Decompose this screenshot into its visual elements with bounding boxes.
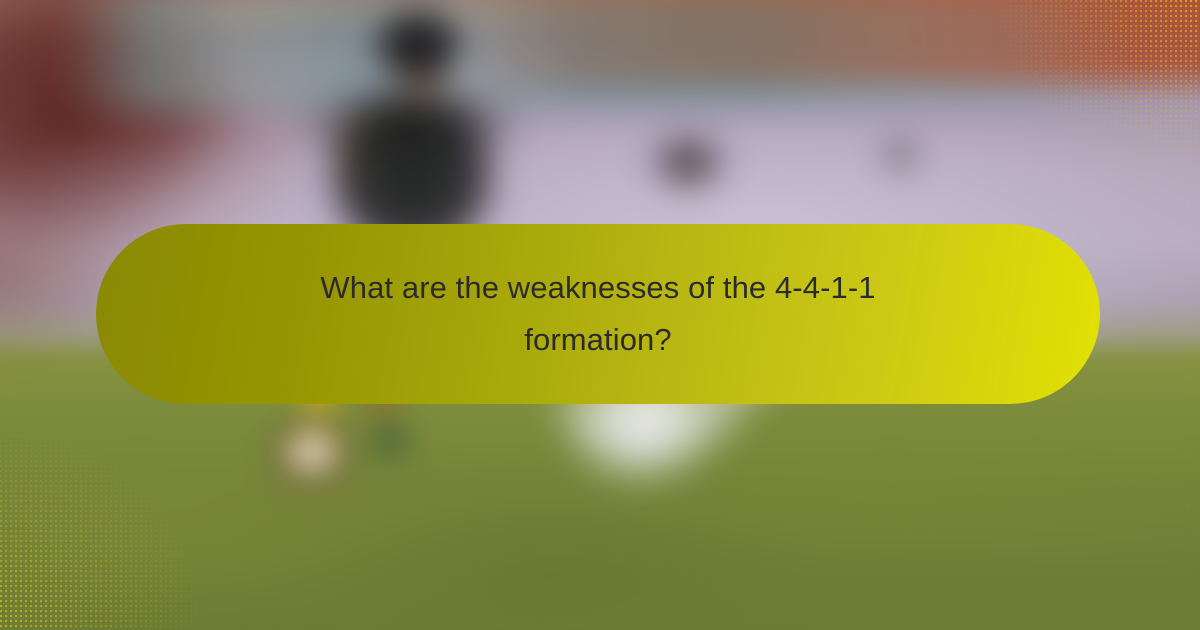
halftone-dots-bottom-left: [0, 420, 210, 630]
halftone-dots-top-right: [990, 0, 1200, 210]
question-title: What are the weaknesses of the 4-4-1-1 f…: [248, 262, 948, 366]
question-banner: What are the weaknesses of the 4-4-1-1 f…: [96, 224, 1100, 404]
poster-canvas: What are the weaknesses of the 4-4-1-1 f…: [0, 0, 1200, 630]
